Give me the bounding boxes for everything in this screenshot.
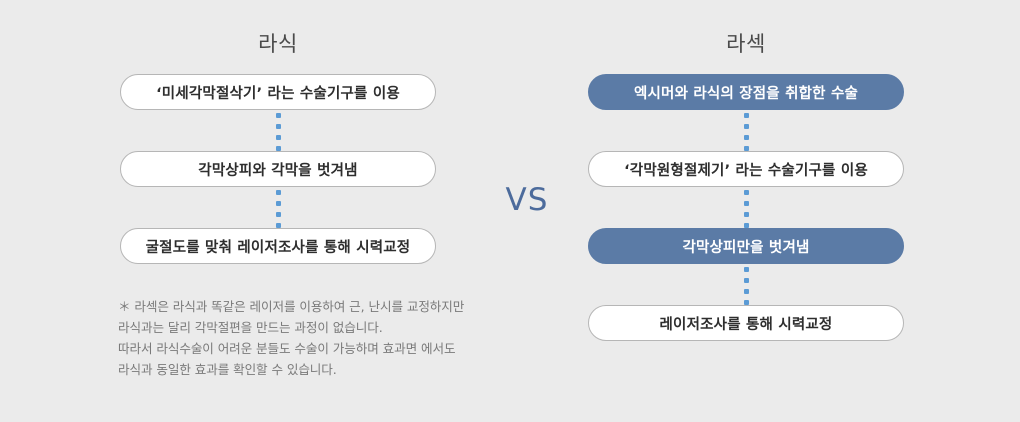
- right-step-1: 엑시머와 라식의 장점을 취합한 수술: [588, 74, 904, 110]
- right-step-4: 레이저조사를 통해 시력교정: [588, 305, 904, 341]
- connector-dot: [744, 124, 749, 129]
- footnote-line-4: 라식과 동일한 효과를 확인할 수 있습니다.: [118, 359, 538, 380]
- left-connector-2: [275, 190, 281, 228]
- connector-dot: [276, 135, 281, 140]
- footnote-line-1: ＊ 라섹은 라식과 똑같은 레이저를 이용하여 근, 난시를 교정하지만: [118, 296, 538, 317]
- footnote-line-2: 라식과는 달리 각막절편을 만드는 과정이 없습니다.: [118, 317, 538, 338]
- connector-dot: [276, 190, 281, 195]
- connector-dot: [276, 201, 281, 206]
- left-connector-1: [275, 113, 281, 151]
- connector-dot: [744, 267, 749, 272]
- connector-dot: [744, 201, 749, 206]
- right-connector-2: [743, 190, 749, 228]
- left-column-title: 라식: [120, 28, 436, 58]
- left-step-1: ‘미세각막절삭기’ 라는 수술기구를 이용: [120, 74, 436, 110]
- right-column-title: 라섹: [588, 28, 904, 58]
- left-step-2: 각막상피와 각막을 벗겨냄: [120, 151, 436, 187]
- connector-dot: [276, 212, 281, 217]
- left-step-3: 굴절도를 맞춰 레이저조사를 통해 시력교정: [120, 228, 436, 264]
- connector-dot: [744, 278, 749, 283]
- right-connector-1: [743, 113, 749, 151]
- connector-dot: [276, 113, 281, 118]
- connector-dot: [276, 124, 281, 129]
- connector-dot: [744, 212, 749, 217]
- connector-dot: [744, 289, 749, 294]
- right-step-3: 각막상피만을 벗겨냄: [588, 228, 904, 264]
- connector-dot: [744, 190, 749, 195]
- footnote-block: ＊ 라섹은 라식과 똑같은 레이저를 이용하여 근, 난시를 교정하지만 라식과…: [118, 296, 538, 380]
- footnote-line-3: 따라서 라식수술이 어려운 분들도 수술이 가능하며 효과면 에서도: [118, 338, 538, 359]
- right-step-2: ‘각막원형절제기’ 라는 수술기구를 이용: [588, 151, 904, 187]
- vs-separator: VS: [472, 182, 582, 218]
- connector-dot: [744, 113, 749, 118]
- connector-dot: [744, 135, 749, 140]
- comparison-diagram: 라식 라섹 ‘미세각막절삭기’ 라는 수술기구를 이용 각막상피와 각막을 벗겨…: [0, 0, 1020, 422]
- right-connector-3: [743, 267, 749, 305]
